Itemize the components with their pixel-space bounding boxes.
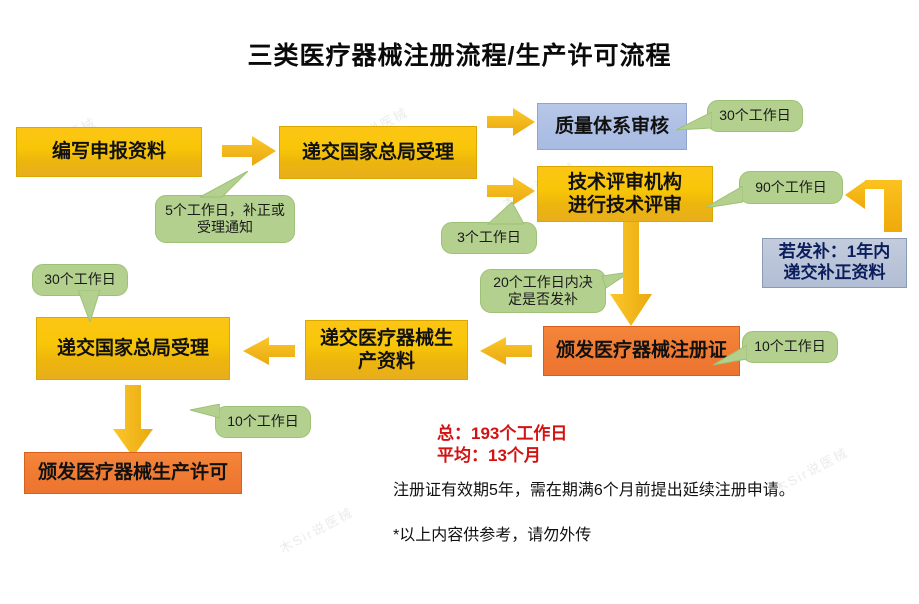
callout-5-workdays-correction: 5个工作日，补正或 受理通知: [155, 195, 295, 243]
arrow-supplement-return: [845, 174, 905, 234]
flowchart-canvas: 木Sir说医械 木Sir说医械 木Sir说医械 木Sir说医械 木Sir说医械 …: [0, 0, 919, 604]
box-submit-production-data[interactable]: 递交医疗器械生 产资料: [305, 320, 468, 380]
callout-tail: [190, 404, 220, 426]
arrow-write-to-submit: [222, 136, 276, 166]
arrow-submit-to-license: [113, 385, 153, 457]
arrow-production-data-to-submit: [243, 337, 295, 365]
watermark: 木Sir说医械: [275, 502, 356, 557]
callout-10-workdays-registration: 10个工作日: [742, 331, 838, 363]
callout-tail: [78, 290, 108, 322]
box-label: 递交医疗器械生 产资料: [320, 327, 453, 373]
box-label: 技术评审机构 进行技术评审: [568, 171, 682, 217]
arrow-registration-to-production-data: [480, 337, 532, 365]
box-submit-cfda-second[interactable]: 递交国家总局受理: [36, 317, 230, 380]
box-technical-review[interactable]: 技术评审机构 进行技术评审: [537, 166, 713, 222]
box-label: 编写申报资料: [52, 140, 166, 163]
callout-tail: [200, 171, 250, 199]
page-title: 三类医疗器械注册流程/生产许可流程: [0, 36, 919, 72]
callout-text: 20个工作日内决 定是否发补: [493, 274, 593, 309]
box-write-application[interactable]: 编写申报资料: [16, 127, 202, 177]
note-validity: 注册证有效期5年，需在期满6个月前提出延续注册申请。: [393, 479, 795, 503]
box-label: 若发补：1年内 递交补正资料: [779, 242, 890, 283]
box-submit-cfda-first[interactable]: 递交国家总局受理: [279, 126, 477, 179]
box-label: 质量体系审核: [555, 115, 669, 138]
callout-tail: [705, 186, 743, 212]
callout-text: 10个工作日: [227, 413, 299, 431]
callout-text: 30个工作日: [44, 271, 116, 289]
summary-average: 平均：13个月: [437, 444, 541, 469]
callout-text: 3个工作日: [457, 229, 521, 247]
box-label: 递交国家总局受理: [57, 337, 209, 360]
callout-text: 5个工作日，补正或 受理通知: [165, 202, 285, 237]
callout-tail: [484, 202, 524, 226]
box-label: 递交国家总局受理: [302, 141, 454, 164]
box-issue-registration[interactable]: 颁发医疗器械注册证: [543, 326, 740, 376]
callout-text: 10个工作日: [754, 338, 826, 356]
callout-90-workdays: 90个工作日: [739, 171, 843, 204]
callout-text: 90个工作日: [755, 179, 827, 197]
callout-tail: [713, 345, 747, 367]
callout-tail: [676, 112, 712, 136]
callout-20-workdays-decision: 20个工作日内决 定是否发补: [480, 269, 606, 313]
summary-total: 总：193个工作日: [437, 422, 567, 447]
note-disclaimer: *以上内容供参考，请勿外传: [393, 524, 591, 548]
box-issue-production-license[interactable]: 颁发医疗器械生产许可: [24, 452, 242, 494]
callout-30-workdays-audit: 30个工作日: [707, 100, 803, 132]
box-quality-system-audit[interactable]: 质量体系审核: [537, 103, 687, 150]
callout-text: 30个工作日: [719, 107, 791, 125]
arrow-submit-to-technical-review: [487, 177, 535, 205]
arrow-submit-to-quality-audit: [487, 108, 535, 136]
box-label: 颁发医疗器械生产许可: [38, 461, 228, 484]
callout-3-workdays: 3个工作日: [441, 222, 537, 254]
callout-10-workdays-license: 10个工作日: [215, 406, 311, 438]
box-label: 颁发医疗器械注册证: [556, 339, 727, 362]
box-supplement-notice[interactable]: 若发补：1年内 递交补正资料: [762, 238, 907, 288]
arrow-review-to-registration: [610, 222, 652, 326]
